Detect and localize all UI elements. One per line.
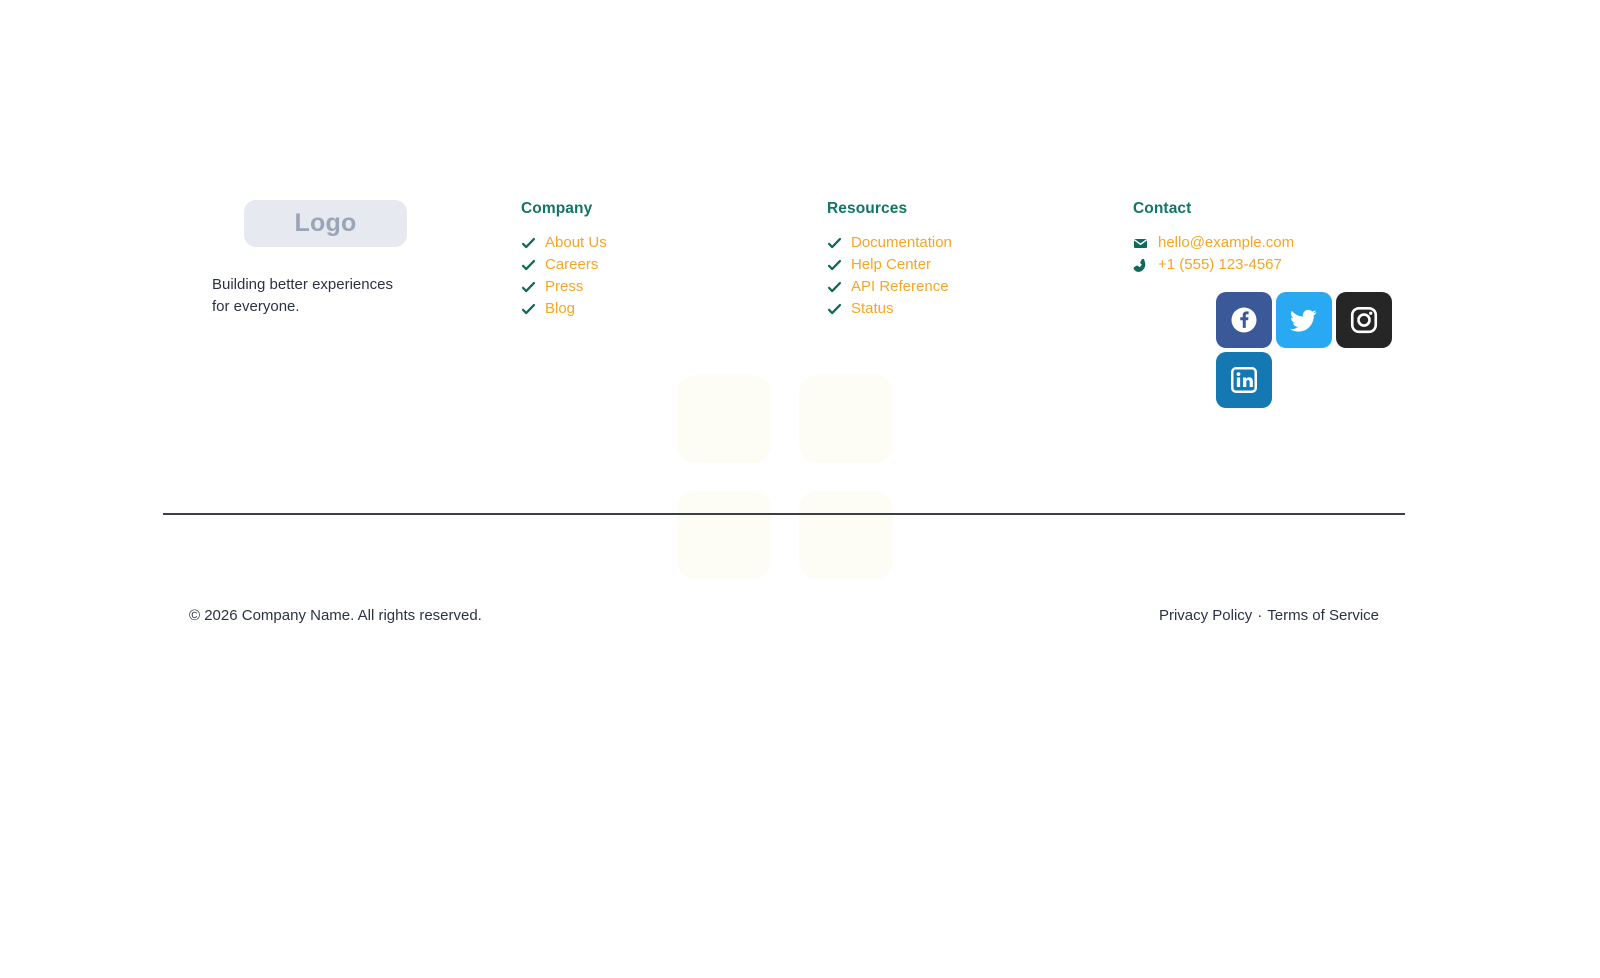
list-item[interactable]: Careers (521, 257, 827, 273)
link-about-us[interactable]: About Us (545, 235, 607, 251)
link-careers[interactable]: Careers (545, 257, 598, 273)
company-link-list: About Us Careers Press Blog (521, 235, 827, 317)
facebook-icon (1229, 305, 1259, 335)
social-links (1216, 292, 1396, 408)
list-item[interactable]: Status (827, 301, 1133, 317)
logo-label: Logo (295, 209, 357, 238)
social-button-linkedin[interactable] (1216, 352, 1272, 408)
link-status[interactable]: Status (851, 301, 894, 317)
list-item[interactable]: Press (521, 279, 827, 295)
link-documentation[interactable]: Documentation (851, 235, 952, 251)
link-phone[interactable]: +1 (555) 123-4567 (1158, 257, 1282, 273)
list-item[interactable]: About Us (521, 235, 827, 251)
check-icon (521, 258, 536, 273)
footer-column-company: Company About Us Careers Press (521, 200, 827, 323)
contact-email-row[interactable]: hello@example.com (1133, 235, 1405, 251)
footer-column-contact: Contact hello@example.com +1 (555) 12 (1133, 200, 1405, 408)
column-heading-resources: Resources (827, 200, 1133, 218)
check-icon (827, 258, 842, 273)
contact-phone-row[interactable]: +1 (555) 123-4567 (1133, 257, 1405, 273)
social-button-instagram[interactable] (1336, 292, 1392, 348)
check-icon (521, 280, 536, 295)
phone-icon (1133, 258, 1148, 273)
footer-column-resources: Resources Documentation Help Center API … (827, 200, 1133, 323)
footer-page: Logo Building better experiences for eve… (0, 0, 1600, 978)
column-heading-company: Company (521, 200, 827, 218)
link-email[interactable]: hello@example.com (1158, 235, 1294, 251)
instagram-icon (1349, 305, 1379, 335)
list-item[interactable]: Documentation (827, 235, 1133, 251)
list-item[interactable]: Help Center (827, 257, 1133, 273)
logo-placeholder[interactable]: Logo (244, 200, 407, 247)
list-item[interactable]: API Reference (827, 279, 1133, 295)
link-press[interactable]: Press (545, 279, 583, 295)
footer-column-brand: Logo Building better experiences for eve… (163, 200, 521, 318)
envelope-icon (1133, 236, 1148, 251)
social-button-facebook[interactable] (1216, 292, 1272, 348)
link-api-reference[interactable]: API Reference (851, 279, 949, 295)
social-button-twitter[interactable] (1276, 292, 1332, 348)
contact-list: hello@example.com +1 (555) 123-4567 (1133, 235, 1405, 273)
footer-divider (163, 513, 1405, 515)
resources-link-list: Documentation Help Center API Reference … (827, 235, 1133, 317)
linkedin-icon (1229, 365, 1259, 395)
brand-tagline: Building better experiences for everyone… (212, 274, 412, 318)
legal-separator: · (1252, 607, 1267, 624)
check-icon (827, 302, 842, 317)
site-footer: Logo Building better experiences for eve… (0, 0, 1600, 978)
link-privacy-policy[interactable]: Privacy Policy (1159, 607, 1252, 624)
list-item[interactable]: Blog (521, 301, 827, 317)
check-icon (521, 236, 536, 251)
link-terms-of-service[interactable]: Terms of Service (1267, 607, 1379, 624)
twitter-icon (1289, 305, 1319, 335)
copyright-text: © 2026 Company Name. All rights reserved… (189, 607, 482, 624)
footer-columns: Logo Building better experiences for eve… (163, 200, 1405, 408)
link-blog[interactable]: Blog (545, 301, 575, 317)
check-icon (521, 302, 536, 317)
check-icon (827, 236, 842, 251)
column-heading-contact: Contact (1133, 200, 1405, 218)
check-icon (827, 280, 842, 295)
footer-bottom-bar: © 2026 Company Name. All rights reserved… (189, 607, 1379, 624)
legal-links: Privacy Policy · Terms of Service (1159, 607, 1379, 624)
link-help-center[interactable]: Help Center (851, 257, 931, 273)
